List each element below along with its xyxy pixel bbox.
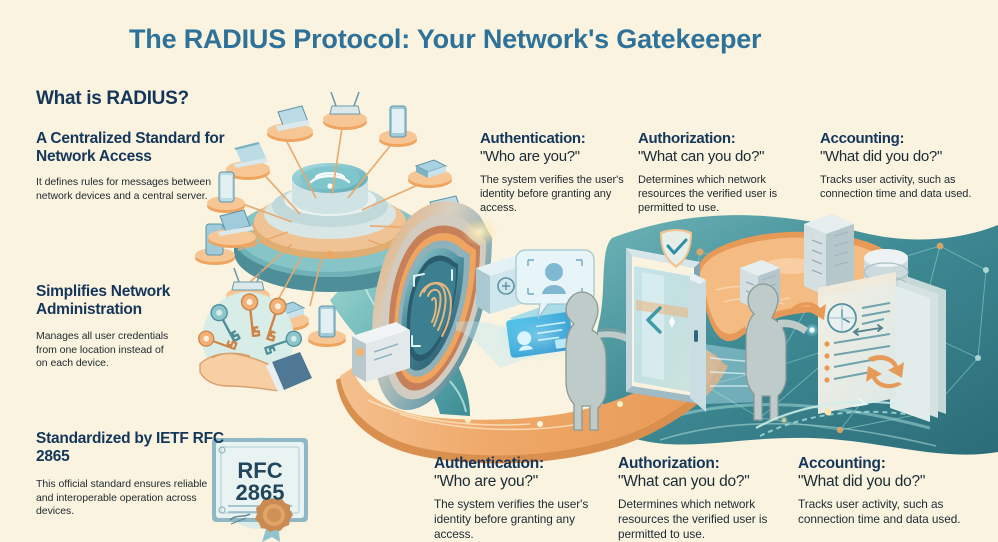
- bottom-card-2-body: Determines which network resources the v…: [618, 497, 798, 542]
- bottom-card-2: Authorization: "What can you do?": [618, 455, 798, 491]
- top-card-3-heading: Accounting:: [820, 130, 990, 148]
- bottom-card-1: Authentication: "Who are you?": [434, 455, 604, 491]
- top-card-2-question: "What can you do?": [638, 148, 808, 166]
- section-heading-what-is-radius: What is RADIUS?: [36, 88, 189, 110]
- top-card-3-body: Tracks user activity, such as connection…: [820, 173, 980, 201]
- left-block-3-heading: Standardized by IETF RFC 2865: [36, 430, 226, 466]
- document-report-icon: [818, 272, 946, 422]
- bottom-card-3: Accounting: "What did you do?": [798, 455, 988, 491]
- bottom-card-2-question: "What can you do?": [618, 473, 798, 491]
- left-block-3-body: This official standard ensures reliable …: [36, 478, 216, 519]
- top-card-1-body: The system verifies the user's identity …: [480, 173, 628, 215]
- bottom-card-3-heading: Accounting:: [798, 455, 988, 473]
- bottom-card-3-question: "What did you do?": [798, 473, 988, 491]
- left-block-2-heading: Simplifies Network Administration: [36, 283, 226, 319]
- bottom-card-2-heading: Authorization:: [618, 455, 798, 473]
- left-block-1-heading: A Centralized Standard for Network Acces…: [36, 130, 236, 166]
- top-card-2: Authorization: "What can you do?": [638, 130, 808, 165]
- bottom-card-1-body: The system verifies the user's identity …: [434, 497, 606, 542]
- bottom-card-1-question: "Who are you?": [434, 473, 604, 491]
- left-block-1-body: It defines rules for messages between ne…: [36, 176, 216, 203]
- infographic-canvas: RFC 2865 The RADIUS Protocol: Your: [0, 0, 998, 542]
- top-card-2-body: Determines which network resources the v…: [638, 173, 806, 215]
- bottom-card-1-heading: Authentication:: [434, 455, 604, 473]
- top-card-3-question: "What did you do?": [820, 148, 990, 166]
- top-card-1-question: "Who are you?": [480, 148, 630, 166]
- left-block-2-body: Manages all user credentials from one lo…: [36, 330, 176, 371]
- bottom-card-3-body: Tracks user activity, such as connection…: [798, 497, 994, 527]
- top-card-2-heading: Authorization:: [638, 130, 808, 148]
- page-title: The RADIUS Protocol: Your Network's Gate…: [129, 24, 761, 55]
- top-card-1-heading: Authentication:: [480, 130, 630, 148]
- top-card-3: Accounting: "What did you do?": [820, 130, 990, 165]
- top-card-1: Authentication: "Who are you?": [480, 130, 630, 165]
